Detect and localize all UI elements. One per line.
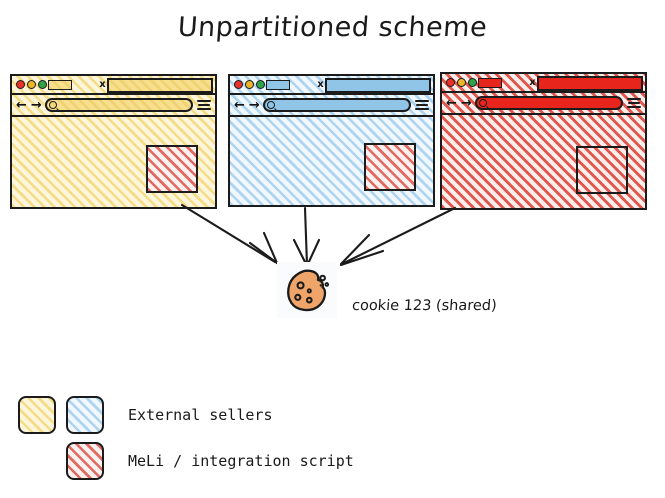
page-viewport (442, 115, 645, 208)
magnifier-icon (267, 101, 275, 109)
browser-window-red[interactable]: x ← → (440, 72, 647, 210)
back-button[interactable]: ← (16, 99, 27, 112)
hamburger-menu-icon[interactable] (197, 100, 211, 111)
url-input[interactable] (475, 96, 623, 110)
page-viewport (230, 117, 433, 205)
forward-button[interactable]: → (249, 99, 260, 112)
browser-window-yellow[interactable]: x ← → (10, 74, 217, 209)
traffic-lights (446, 78, 477, 87)
legend-label-external-sellers: External sellers (128, 406, 273, 424)
traffic-light-red-icon[interactable] (16, 80, 25, 89)
traffic-light-yellow-icon[interactable] (27, 80, 36, 89)
browser-window-blue[interactable]: x ← → (228, 74, 435, 207)
browser-tab[interactable] (325, 78, 431, 93)
window-title-placeholder (266, 80, 290, 90)
tab-close-icon[interactable]: x (317, 79, 323, 90)
legend-swatch-blue (66, 396, 104, 434)
magnifier-icon (49, 101, 57, 109)
browser-tab[interactable] (537, 76, 643, 91)
tab-close-icon[interactable]: x (99, 79, 105, 90)
magnifier-icon (479, 99, 487, 107)
legend-swatch-yellow (18, 396, 56, 434)
browser-tab[interactable] (107, 78, 213, 93)
cookie-icon (284, 267, 330, 313)
titlebar: x (230, 76, 433, 95)
arrow-red-to-cookie (342, 208, 455, 264)
traffic-lights (16, 80, 47, 89)
arrow-blue-to-cookie (305, 208, 307, 265)
legend: External sellers MeLi / integration scri… (18, 392, 354, 484)
forward-button[interactable]: → (461, 97, 472, 110)
back-button[interactable]: ← (234, 99, 245, 112)
cookie-label: cookie 123 (shared) (351, 298, 497, 314)
diagram-canvas: Unpartitioned scheme x ← → (0, 0, 665, 498)
embedded-iframe-meli[interactable] (146, 145, 198, 193)
page-viewport (12, 117, 215, 207)
traffic-light-green-icon[interactable] (256, 80, 265, 89)
traffic-light-green-icon[interactable] (468, 78, 477, 87)
forward-button[interactable]: → (31, 99, 42, 112)
url-input[interactable] (263, 98, 411, 112)
legend-label-meli: MeLi / integration script (128, 452, 354, 470)
traffic-light-red-icon[interactable] (234, 80, 243, 89)
traffic-light-red-icon[interactable] (446, 78, 455, 87)
url-input[interactable] (45, 98, 193, 112)
traffic-light-yellow-icon[interactable] (457, 78, 466, 87)
hamburger-menu-icon[interactable] (627, 98, 641, 109)
traffic-lights (234, 80, 265, 89)
arrow-yellow-to-cookie (182, 205, 275, 262)
legend-row-external-sellers: External sellers (18, 392, 354, 438)
window-title-placeholder (478, 78, 502, 88)
titlebar: x (442, 74, 645, 93)
back-button[interactable]: ← (446, 97, 457, 110)
cookie-icon-container (277, 262, 337, 318)
window-title-placeholder (48, 80, 72, 90)
legend-swatch-red (66, 442, 104, 480)
titlebar: x (12, 76, 215, 95)
page-title: Unpartitioned scheme (0, 12, 665, 43)
toolbar: ← → (230, 95, 433, 117)
legend-row-meli: MeLi / integration script (18, 438, 354, 484)
toolbar: ← → (12, 95, 215, 117)
tab-close-icon[interactable]: x (529, 77, 535, 88)
embedded-iframe-meli[interactable] (576, 146, 628, 194)
traffic-light-green-icon[interactable] (38, 80, 47, 89)
toolbar: ← → (442, 93, 645, 115)
hamburger-menu-icon[interactable] (415, 100, 429, 111)
traffic-light-yellow-icon[interactable] (245, 80, 254, 89)
embedded-iframe-meli[interactable] (364, 143, 416, 191)
